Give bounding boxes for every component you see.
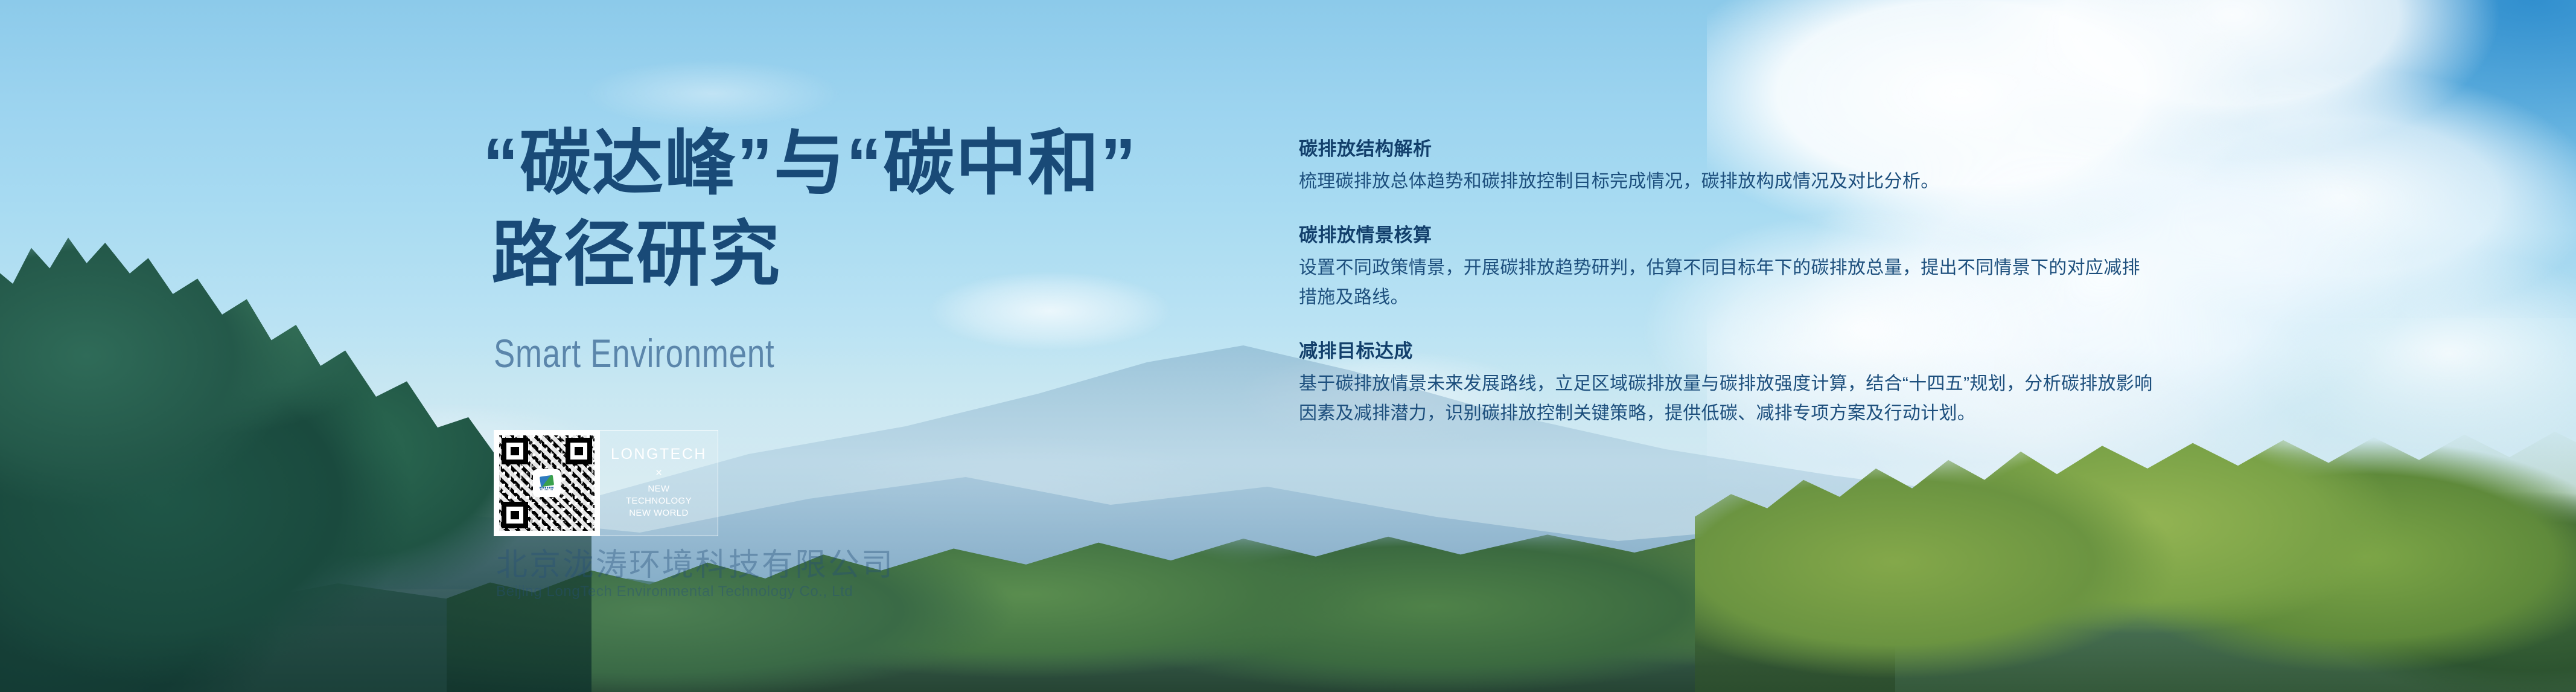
longtech-logo-mark-icon (540, 475, 554, 487)
feature-sections: 碳排放结构解析 梳理碳排放总体趋势和碳排放控制目标完成情况，碳排放构成情况及对比… (1299, 138, 2156, 428)
brand-tagline-card: LONGTECH × NEW TECHNOLOGY NEW WORLD (600, 430, 718, 536)
hero-banner: “碳达峰”与“碳中和” 路径研究 Smart Environment LONGT… (0, 0, 2576, 692)
qr-code-modules (499, 435, 595, 531)
qr-code[interactable] (494, 430, 600, 536)
logo-text-line-2 (540, 489, 553, 490)
section-body: 设置不同政策情景，开展碳排放趋势研判，估算不同目标年下的碳排放总量，提出不同情景… (1299, 254, 2156, 312)
brand-name: LONGTECH (611, 447, 707, 462)
feature-section: 碳排放结构解析 梳理碳排放总体趋势和碳排放控制目标完成情况，碳排放构成情况及对比… (1299, 138, 2156, 196)
section-body: 基于碳排放情景未来发展路线，立足区域碳排放量与碳排放强度计算，结合“十四五”规划… (1299, 370, 2156, 428)
section-heading: 碳排放结构解析 (1299, 138, 2156, 161)
feature-section: 减排目标达成 基于碳排放情景未来发展路线，立足区域碳排放量与碳排放强度计算，结合… (1299, 340, 2156, 428)
qr-finder-top-right-icon (566, 438, 592, 464)
brand-tagline: NEW TECHNOLOGY NEW WORLD (626, 483, 692, 519)
tagline-line-1: NEW (626, 483, 692, 495)
logo-text-line-1 (540, 487, 554, 489)
qr-center-logo-icon (534, 470, 560, 496)
qr-finder-top-left-icon (502, 438, 528, 464)
qr-finder-bottom-left-icon (502, 502, 528, 528)
section-body: 梳理碳排放总体趋势和碳排放控制目标完成情况，碳排放构成情况及对比分析。 (1299, 167, 2156, 197)
tagline-line-3: NEW WORLD (626, 507, 692, 519)
brand-separator-icon: × (655, 467, 662, 479)
banner-subtitle: Smart Environment (494, 333, 775, 373)
title-line-2: 路径研究 (483, 210, 1195, 301)
qr-brand-block: LONGTECH × NEW TECHNOLOGY NEW WORLD (494, 430, 718, 536)
feature-section: 碳排放情景核算 设置不同政策情景，开展碳排放趋势研判，估算不同目标年下的碳排放总… (1299, 224, 2156, 312)
title-line-1: “碳达峰”与“碳中和” (483, 118, 1195, 210)
banner-title: “碳达峰”与“碳中和” 路径研究 (483, 118, 1195, 301)
section-heading: 碳排放情景核算 (1299, 224, 2156, 248)
tagline-line-2: TECHNOLOGY (626, 495, 692, 507)
section-heading: 减排目标达成 (1299, 340, 2156, 364)
forest-right-conifers (1695, 420, 2576, 692)
